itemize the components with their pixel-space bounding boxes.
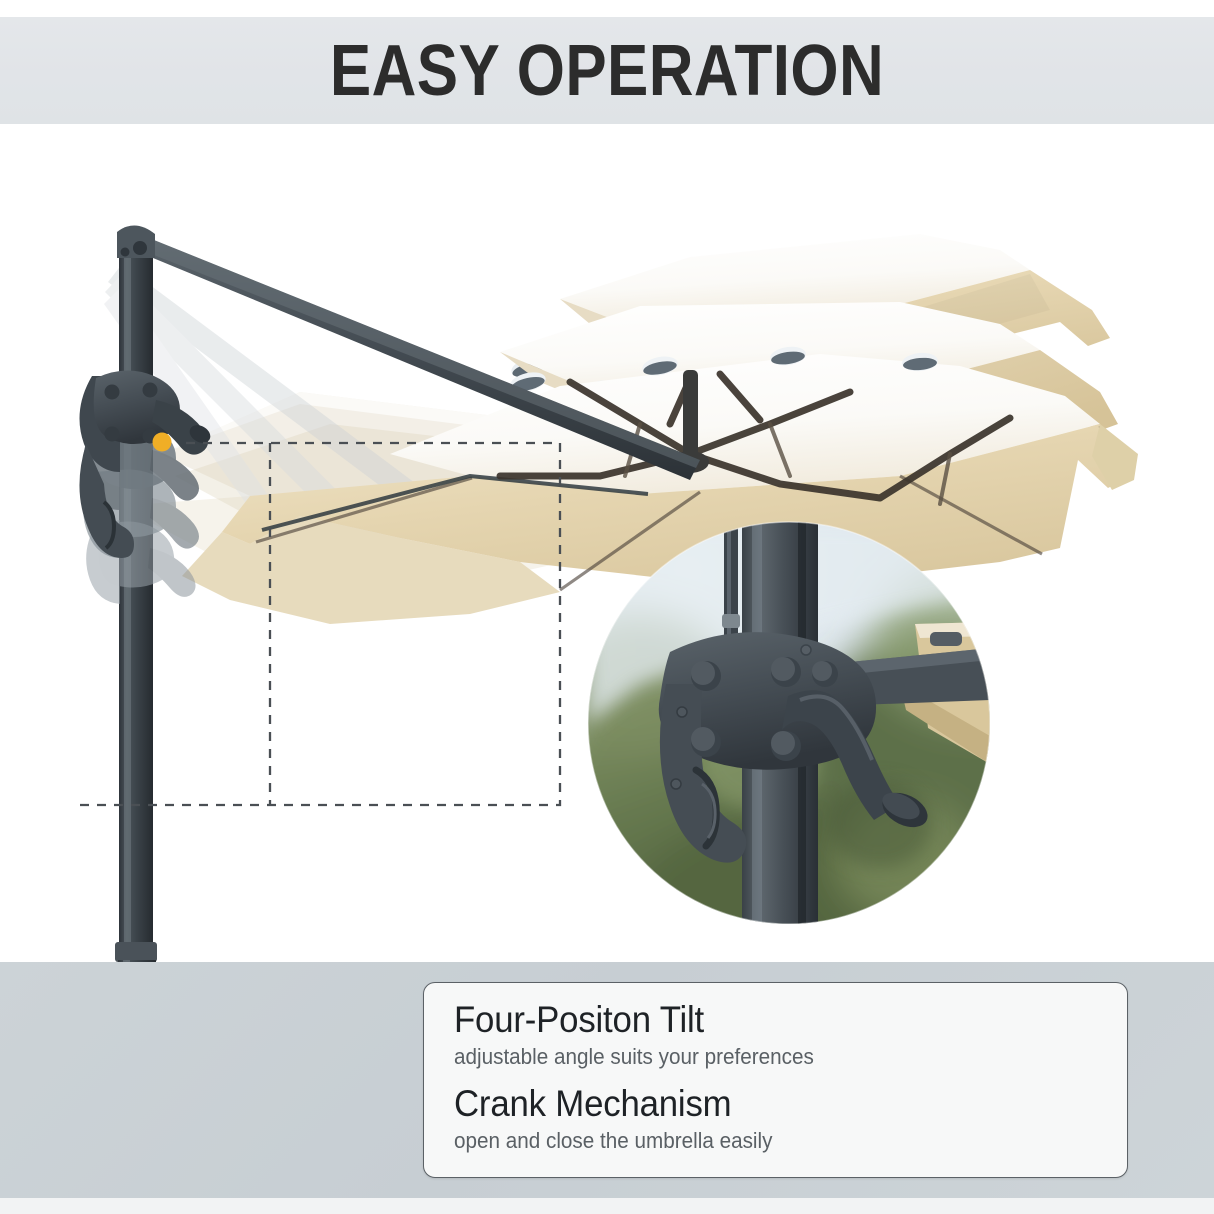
top-white-strip — [0, 0, 1214, 17]
product-photo-stage — [0, 124, 1214, 962]
feature-title-crank: Crank Mechanism — [454, 1083, 1087, 1124]
feature-block-crank: Crank Mechanism open and close the umbre… — [454, 1083, 1127, 1155]
feature-subtitle-tilt: adjustable angle suits your preferences — [454, 1044, 1087, 1070]
feature-title-tilt: Four-Positon Tilt — [454, 999, 1087, 1040]
umbrella-illustration — [0, 124, 1214, 962]
feature-callout-card: Four-Positon Tilt adjustable angle suits… — [423, 982, 1128, 1178]
bottom-white-strip — [0, 1198, 1214, 1214]
umbrella-pole — [115, 225, 157, 962]
detail-circle-inset — [530, 522, 1090, 962]
accent-marker-dot — [153, 433, 172, 452]
feature-block-tilt: Four-Positon Tilt adjustable angle suits… — [454, 999, 1127, 1071]
page-title: EASY OPERATION — [85, 17, 1129, 124]
feature-subtitle-crank: open and close the umbrella easily — [454, 1128, 1087, 1154]
marketing-image-root: EASY OPERATION — [0, 0, 1214, 1214]
